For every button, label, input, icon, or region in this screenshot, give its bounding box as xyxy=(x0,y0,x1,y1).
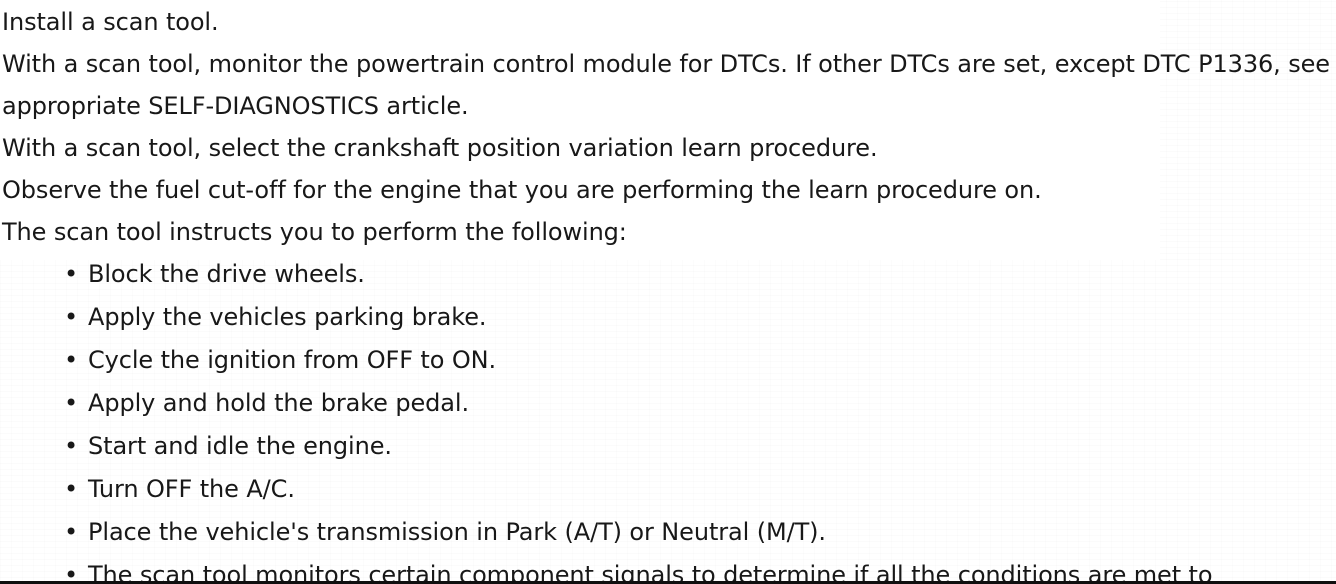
paragraph-scan-tool-instructs: The scan tool instructs you to perform t… xyxy=(0,211,1336,253)
bullet-point-icon: • xyxy=(64,554,76,584)
list-item-label: Apply the vehicles parking brake. xyxy=(88,303,486,331)
list-item-label: Start and idle the engine. xyxy=(88,432,392,460)
list-item: • The scan tool monitors certain compone… xyxy=(0,554,1336,584)
list-item: • Block the drive wheels. xyxy=(0,253,1336,296)
document-body: Install a scan tool. With a scan tool, m… xyxy=(0,0,1336,584)
document-viewport[interactable]: Install a scan tool. With a scan tool, m… xyxy=(0,0,1336,584)
list-item-label: Place the vehicle's transmission in Park… xyxy=(88,518,826,546)
list-item: • Place the vehicle's transmission in Pa… xyxy=(0,511,1336,554)
instruction-bullet-list: • Block the drive wheels. • Apply the ve… xyxy=(0,253,1336,584)
bullet-point-icon: • xyxy=(64,382,76,425)
list-item-label: Apply and hold the brake pedal. xyxy=(88,389,469,417)
paragraph-monitor-dtcs: With a scan tool, monitor the powertrain… xyxy=(0,43,1336,127)
paragraph-observe-fuel-cutoff: Observe the fuel cut-off for the engine … xyxy=(0,169,1336,211)
list-item-label: Cycle the ignition from OFF to ON. xyxy=(88,346,496,374)
bullet-point-icon: • xyxy=(64,425,76,468)
list-item-label: Block the drive wheels. xyxy=(88,260,365,288)
list-item: • Apply the vehicles parking brake. xyxy=(0,296,1336,339)
bullet-point-icon: • xyxy=(64,339,76,382)
list-item: • Cycle the ignition from OFF to ON. xyxy=(0,339,1336,382)
paragraph-install-scan-tool: Install a scan tool. xyxy=(0,0,1336,43)
bullet-point-icon: • xyxy=(64,296,76,339)
list-item: • Turn OFF the A/C. xyxy=(0,468,1336,511)
bullet-point-icon: • xyxy=(64,253,76,296)
list-item: • Start and idle the engine. xyxy=(0,425,1336,468)
paragraph-select-learn-procedure: With a scan tool, select the crankshaft … xyxy=(0,127,1336,169)
bullet-point-icon: • xyxy=(64,511,76,554)
list-item: • Apply and hold the brake pedal. xyxy=(0,382,1336,425)
list-item-label: Turn OFF the A/C. xyxy=(88,475,295,503)
bullet-point-icon: • xyxy=(64,468,76,511)
